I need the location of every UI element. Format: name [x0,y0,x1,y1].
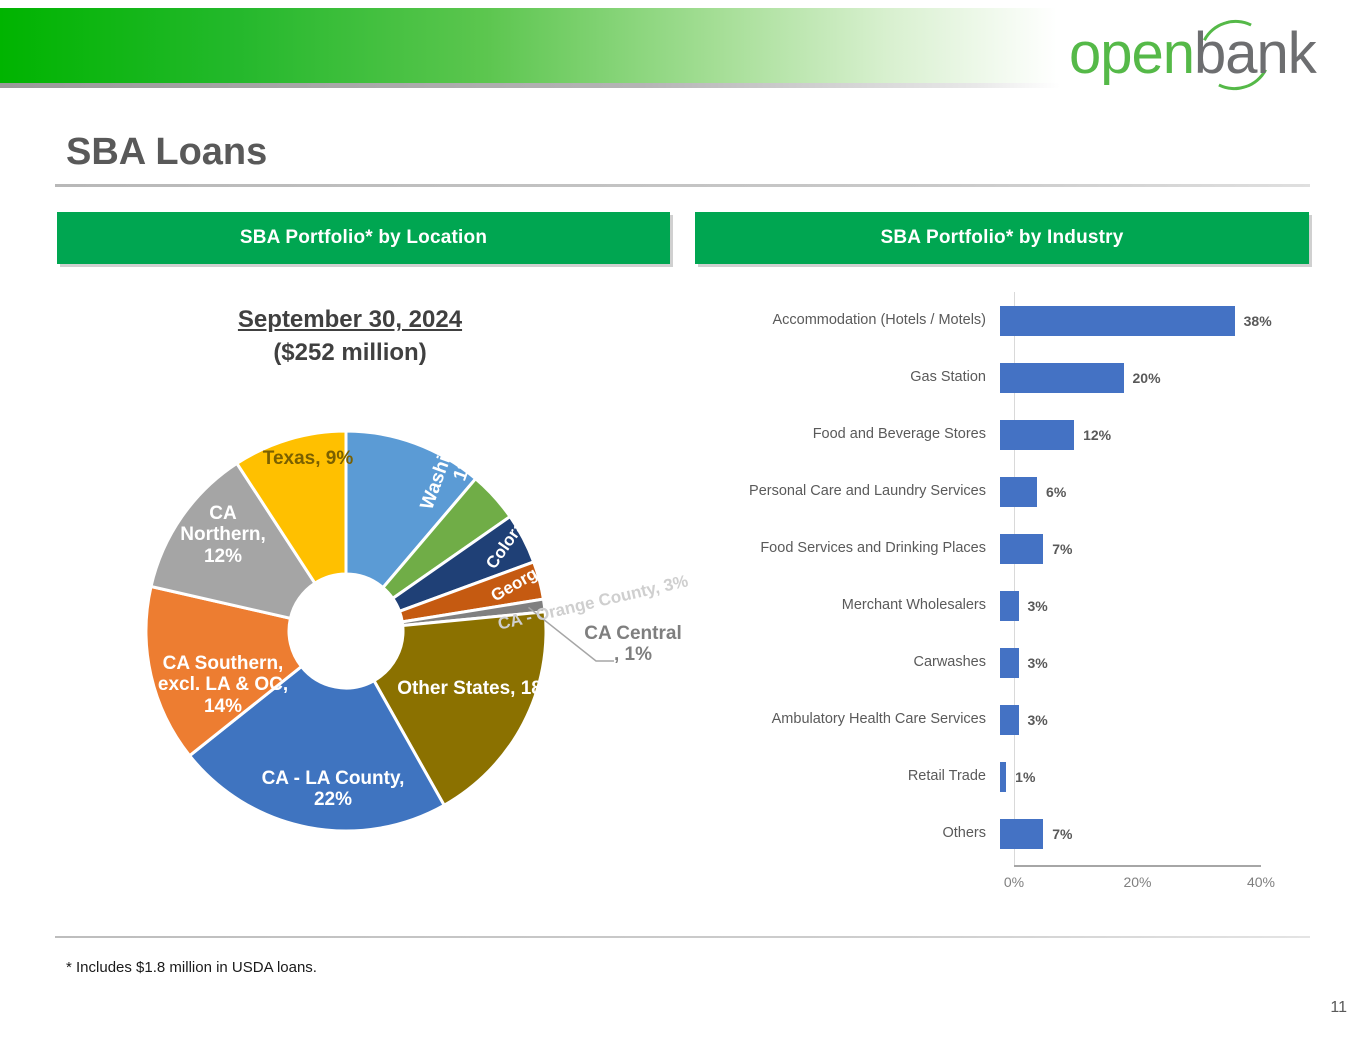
bar-fill [1000,648,1019,678]
bar-fill [1000,705,1019,735]
bar-row: Others7% [700,805,1300,862]
bar-fill [1000,591,1019,621]
bar-fill [1000,534,1043,564]
bar-row: Food and Beverage Stores12% [700,406,1300,463]
bar-row: Gas Station20% [700,349,1300,406]
bar-row: Personal Care and Laundry Services6% [700,463,1300,520]
donut-slice-label: CA Northern, 12% [158,503,288,567]
bar-track: 7% [1000,805,1288,862]
bar-fill [1000,420,1074,450]
footer-divider [55,936,1310,938]
bar-category-label: Carwashes [700,653,1000,672]
bar-fill [1000,363,1124,393]
bar-category-label: Gas Station [700,368,1000,387]
bar-track: 38% [1000,292,1288,349]
donut-slice-label: CA Central , 1% [578,623,688,666]
bar-x-tick-label: 0% [1004,874,1024,890]
bar-value-label: 3% [1028,712,1048,728]
top-banner-shadow [0,83,1060,88]
bar-value-label: 3% [1028,598,1048,614]
panel-header-industry: SBA Portfolio* by Industry [695,212,1309,264]
donut-slice-label: Other States, 18% [383,678,573,699]
bar-row: Accommodation (Hotels / Motels)38% [700,292,1300,349]
bar-fill [1000,819,1043,849]
bar-x-tick-label: 20% [1123,874,1151,890]
bar-track: 3% [1000,577,1288,634]
bar-chart-category-axis [1014,865,1261,867]
bar-value-label: 7% [1052,826,1072,842]
donut-slice-label: Texas, 9% [238,448,378,469]
bar-row: Ambulatory Health Care Services3% [700,691,1300,748]
title-divider [55,184,1310,187]
bar-track: 1% [1000,748,1288,805]
page-number: 11 [1330,999,1347,1017]
bar-track: 3% [1000,634,1288,691]
bar-value-label: 7% [1052,541,1072,557]
bar-row: Food Services and Drinking Places7% [700,520,1300,577]
bar-track: 6% [1000,463,1288,520]
bar-x-tick-label: 40% [1247,874,1275,890]
bar-fill [1000,762,1006,792]
bar-value-label: 6% [1046,484,1066,500]
bar-row: Merchant Wholesalers3% [700,577,1300,634]
bar-fill [1000,477,1037,507]
bar-value-label: 20% [1133,370,1161,386]
bar-category-label: Food and Beverage Stores [700,425,1000,444]
top-green-gradient-banner [0,8,1057,83]
logo-bank-text: bank [1194,21,1316,86]
bar-row: Retail Trade1% [700,748,1300,805]
bar-value-label: 3% [1028,655,1048,671]
donut-date-label: September 30, 2024 [150,303,550,336]
bar-track: 12% [1000,406,1288,463]
bar-category-label: Retail Trade [700,767,1000,786]
bar-category-label: Ambulatory Health Care Services [700,710,1000,729]
bar-value-label: 1% [1015,769,1035,785]
donut-chart-title: September 30, 2024 ($252 million) [150,303,550,369]
bar-category-label: Merchant Wholesalers [700,596,1000,615]
panel-header-location: SBA Portfolio* by Location [57,212,670,264]
bar-category-label: Personal Care and Laundry Services [700,482,1000,501]
donut-amount-label: ($252 million) [150,336,550,369]
bar-fill [1000,306,1235,336]
sba-portfolio-by-industry-bar-chart: Accommodation (Hotels / Motels)38%Gas St… [700,292,1300,912]
bar-track: 7% [1000,520,1288,577]
slide: openbank SBA Loans SBA Portfolio* by Loc… [0,0,1365,1055]
panel-header-location-label: SBA Portfolio* by Location [240,227,487,249]
bar-category-label: Accommodation (Hotels / Motels) [700,311,1000,330]
openbank-logo: openbank [1069,18,1359,90]
donut-slice-label: CA Southern, excl. LA & OC, 14% [128,653,318,717]
logo-wordmark: openbank [1069,18,1359,90]
sba-portfolio-by-location-donut-chart: Washington, 11%Colorado, 4%Georgia, 4%CA… [118,388,678,878]
footnote: * Includes $1.8 million in USDA loans. [66,959,317,976]
donut-slice-label: CA - LA County, 22% [238,768,428,811]
bar-track: 20% [1000,349,1288,406]
bar-track: 3% [1000,691,1288,748]
bar-category-label: Others [700,824,1000,843]
page-title: SBA Loans [66,131,267,174]
logo-open-text: open [1069,21,1194,86]
bar-category-label: Food Services and Drinking Places [700,539,1000,558]
bar-value-label: 38% [1244,313,1272,329]
bar-value-label: 12% [1083,427,1111,443]
panel-header-industry-label: SBA Portfolio* by Industry [880,227,1123,249]
bar-row: Carwashes3% [700,634,1300,691]
